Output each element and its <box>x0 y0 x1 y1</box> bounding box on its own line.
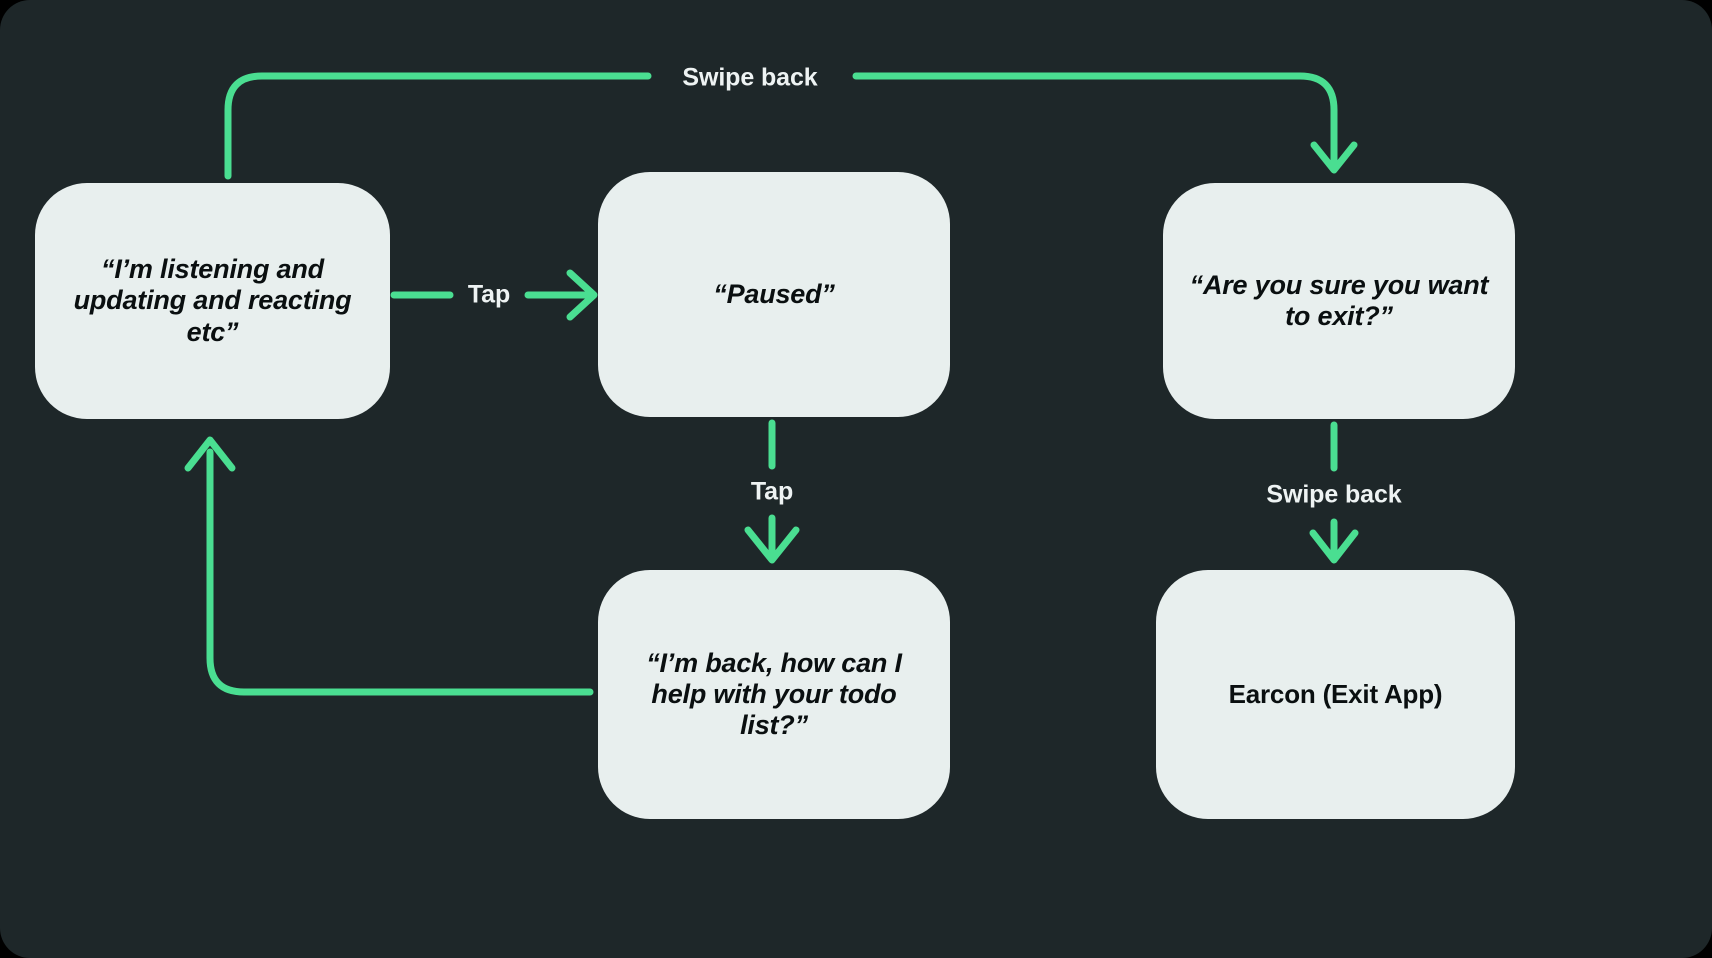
node-earcon[interactable]: Earcon (Exit App) <box>1156 570 1515 819</box>
node-paused[interactable]: “Paused” <box>598 172 950 417</box>
edge-listening-to-confirm-line-2 <box>856 76 1334 162</box>
diagram-canvas: “I’m listening and updating and reacting… <box>0 0 1712 958</box>
edge-listening-to-paused-arrowhead <box>570 273 594 317</box>
edge-listening-to-confirm-line <box>228 76 648 176</box>
edge-label-tap-listening-to-paused: Tap <box>468 281 510 310</box>
node-confirm-exit[interactable]: “Are you sure you want to exit?” <box>1163 183 1515 419</box>
node-confirm-exit-label: “Are you sure you want to exit?” <box>1189 270 1489 333</box>
edge-label-swipe-back-confirm-to-earcon: Swipe back <box>1266 481 1401 510</box>
node-paused-label: “Paused” <box>713 279 834 310</box>
node-earcon-label: Earcon (Exit App) <box>1229 679 1443 709</box>
edge-confirm-to-earcon-arrowhead <box>1313 533 1355 560</box>
node-listening-label: “I’m listening and updating and reacting… <box>61 254 364 348</box>
edge-label-tap-paused-to-back: Tap <box>751 478 793 507</box>
node-listening[interactable]: “I’m listening and updating and reacting… <box>35 183 390 419</box>
edge-listening-to-confirm-arrowhead <box>1314 145 1354 170</box>
edge-back-to-listening-line <box>210 452 590 692</box>
edge-label-swipe-back-top: Swipe back <box>682 64 817 93</box>
node-back[interactable]: “I’m back, how can I help with your todo… <box>598 570 950 819</box>
edge-paused-to-back-arrowhead <box>748 530 796 560</box>
edge-back-to-listening-arrowhead <box>188 440 232 468</box>
node-back-label: “I’m back, how can I help with your todo… <box>624 648 924 742</box>
